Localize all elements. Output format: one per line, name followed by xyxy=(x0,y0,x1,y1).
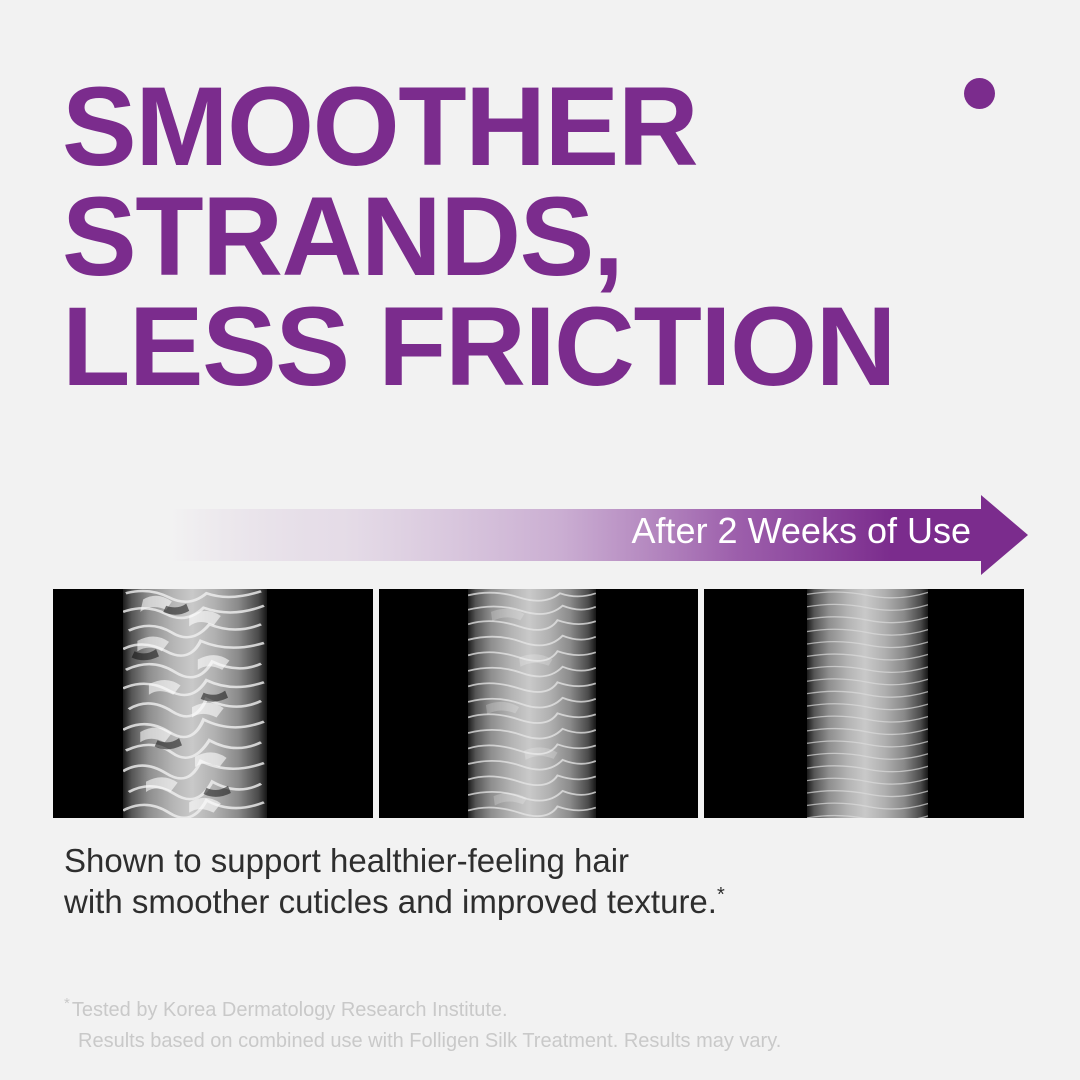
headline-line-1: SMOOTHER xyxy=(62,72,1042,182)
body-copy-line-2: with smoother cuticles and improved text… xyxy=(64,883,717,920)
progress-arrow-label: After 2 Weeks of Use xyxy=(632,509,971,553)
panel-after xyxy=(704,589,1024,818)
comparison-strip xyxy=(53,589,1024,818)
panel-midway xyxy=(379,589,699,818)
cuticle-texture xyxy=(123,589,267,818)
page-title: SMOOTHER STRANDS, LESS FRICTION xyxy=(62,72,1042,402)
footnote-marker-inline: * xyxy=(717,884,725,906)
hair-strand-image xyxy=(468,589,596,818)
body-copy-line-1: Shown to support healthier-feeling hair xyxy=(64,842,629,879)
body-copy: Shown to support healthier-feeling hair … xyxy=(64,840,924,922)
cuticle-texture xyxy=(468,589,596,818)
footnote: *Tested by Korea Dermatology Research In… xyxy=(64,995,964,1057)
hair-strand-image xyxy=(123,589,267,818)
cuticle-texture xyxy=(807,589,928,818)
hair-strand-image xyxy=(807,589,928,818)
footnote-marker: * xyxy=(64,995,70,1012)
progress-arrow: After 2 Weeks of Use xyxy=(53,495,1028,575)
footnote-line-2: Results based on combined use with Folli… xyxy=(64,1026,964,1057)
footnote-line-1: Tested by Korea Dermatology Research Ins… xyxy=(72,999,508,1021)
headline-line-2: STRANDS, xyxy=(62,182,1042,292)
headline-line-3: LESS FRICTION xyxy=(62,292,1042,402)
panel-before xyxy=(53,589,373,818)
